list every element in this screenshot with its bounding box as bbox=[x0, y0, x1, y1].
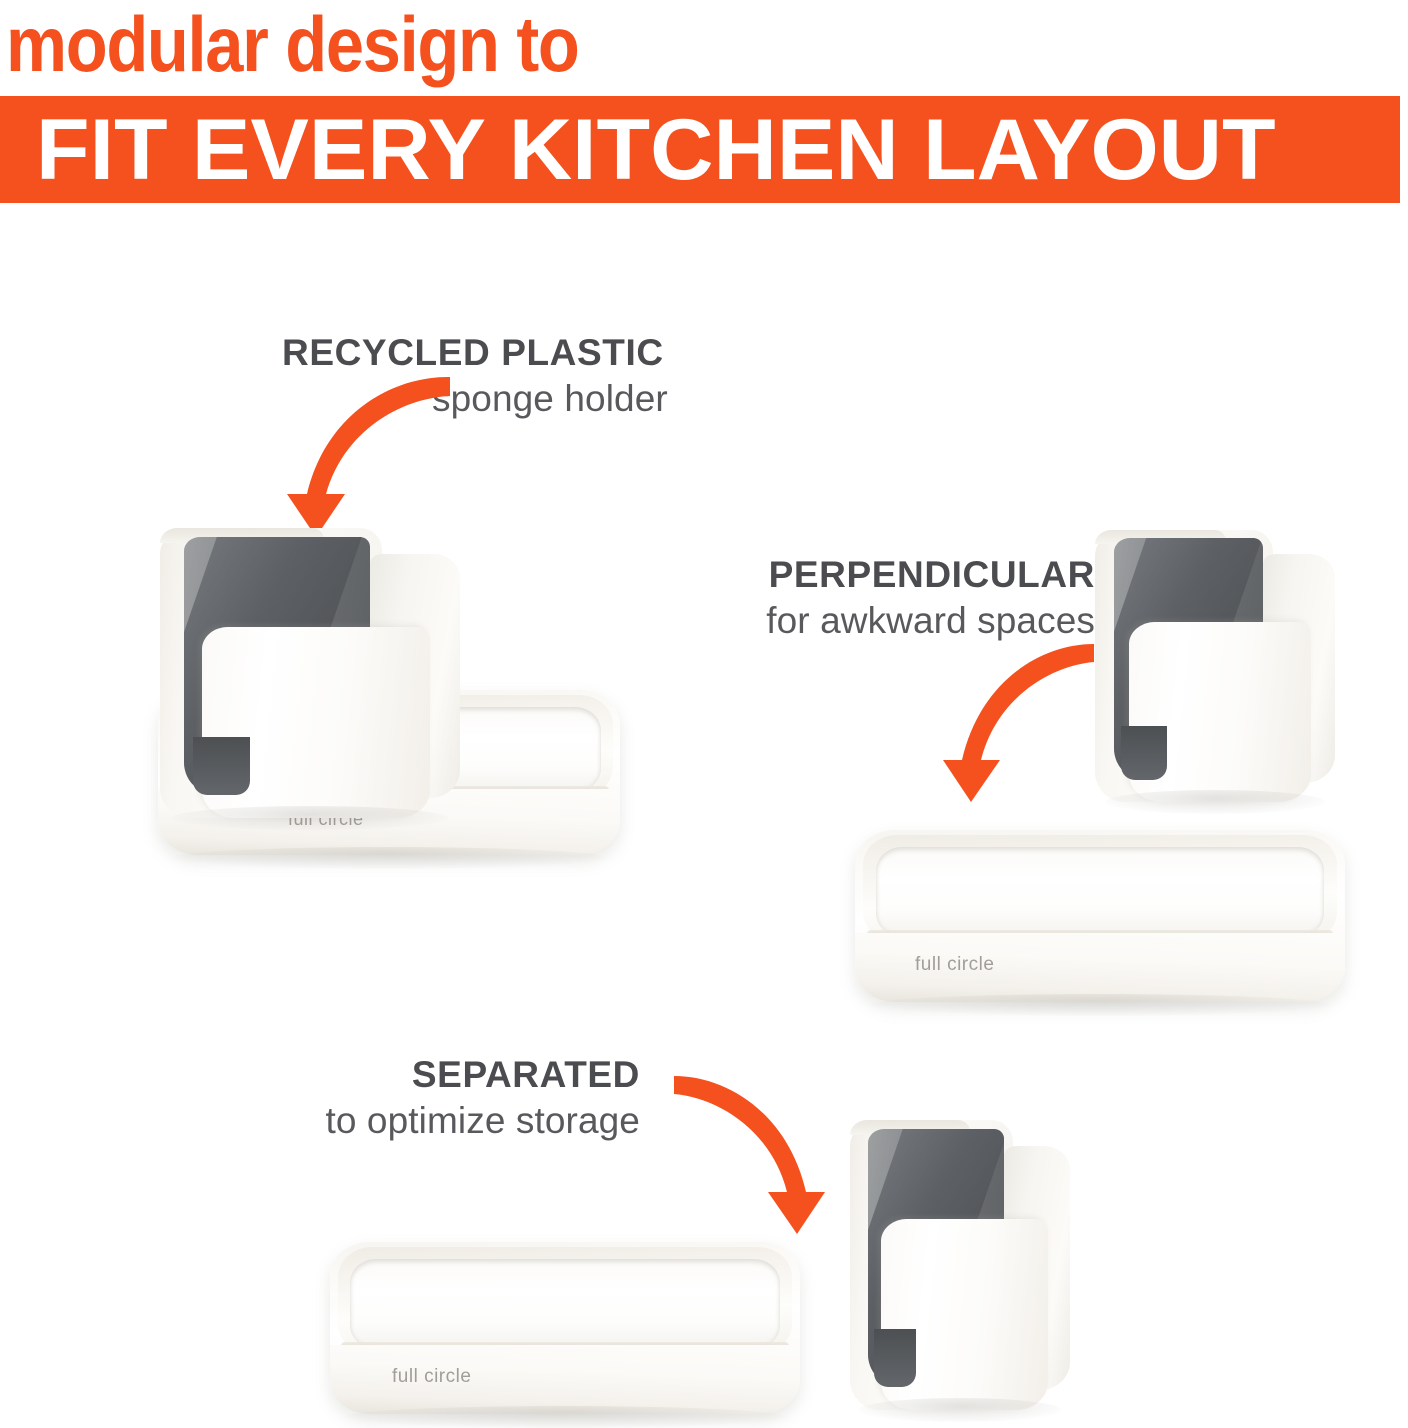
caddy-drain-slot bbox=[1121, 726, 1167, 780]
tray-drop-shadow bbox=[344, 1406, 786, 1428]
arrow-recycled-plastic-icon bbox=[282, 382, 457, 542]
tray-drop-shadow bbox=[870, 994, 1331, 1016]
caddy-drop-shadow bbox=[859, 1398, 1061, 1422]
tray-drop-shadow bbox=[172, 847, 606, 869]
product-photo-assembled: full circle bbox=[150, 528, 620, 868]
caddy-drop-shadow bbox=[1105, 790, 1326, 814]
product-photo-separated: full circle bbox=[320, 1120, 1350, 1420]
sponge-caddy bbox=[1095, 530, 1335, 802]
drip-tray: full circle bbox=[330, 1242, 800, 1414]
caddy-drain-slot bbox=[874, 1329, 916, 1387]
caddy-drop-shadow bbox=[172, 806, 448, 830]
drip-tray: full circle bbox=[855, 830, 1345, 1002]
callout-title: SEPARATED bbox=[180, 1052, 640, 1097]
callout-title: RECYCLED PLASTIC bbox=[282, 330, 742, 375]
tray-well bbox=[876, 847, 1325, 936]
caddy-drain-slot bbox=[193, 737, 250, 795]
product-photo-perpendicular: full circle bbox=[845, 530, 1365, 1000]
header-block: modular design to FIT EVERY KITCHEN LAYO… bbox=[0, 0, 1408, 210]
banner-headline-text: FIT EVERY KITCHEN LAYOUT bbox=[36, 101, 1276, 199]
brand-logo: full circle bbox=[915, 954, 994, 976]
sponge-caddy bbox=[160, 528, 460, 818]
sub-headline-text: modular design to bbox=[6, 0, 578, 92]
tray-well bbox=[350, 1259, 781, 1348]
sponge-caddy bbox=[850, 1120, 1070, 1410]
brand-logo: full circle bbox=[392, 1366, 471, 1388]
headline-banner: FIT EVERY KITCHEN LAYOUT bbox=[0, 96, 1400, 203]
